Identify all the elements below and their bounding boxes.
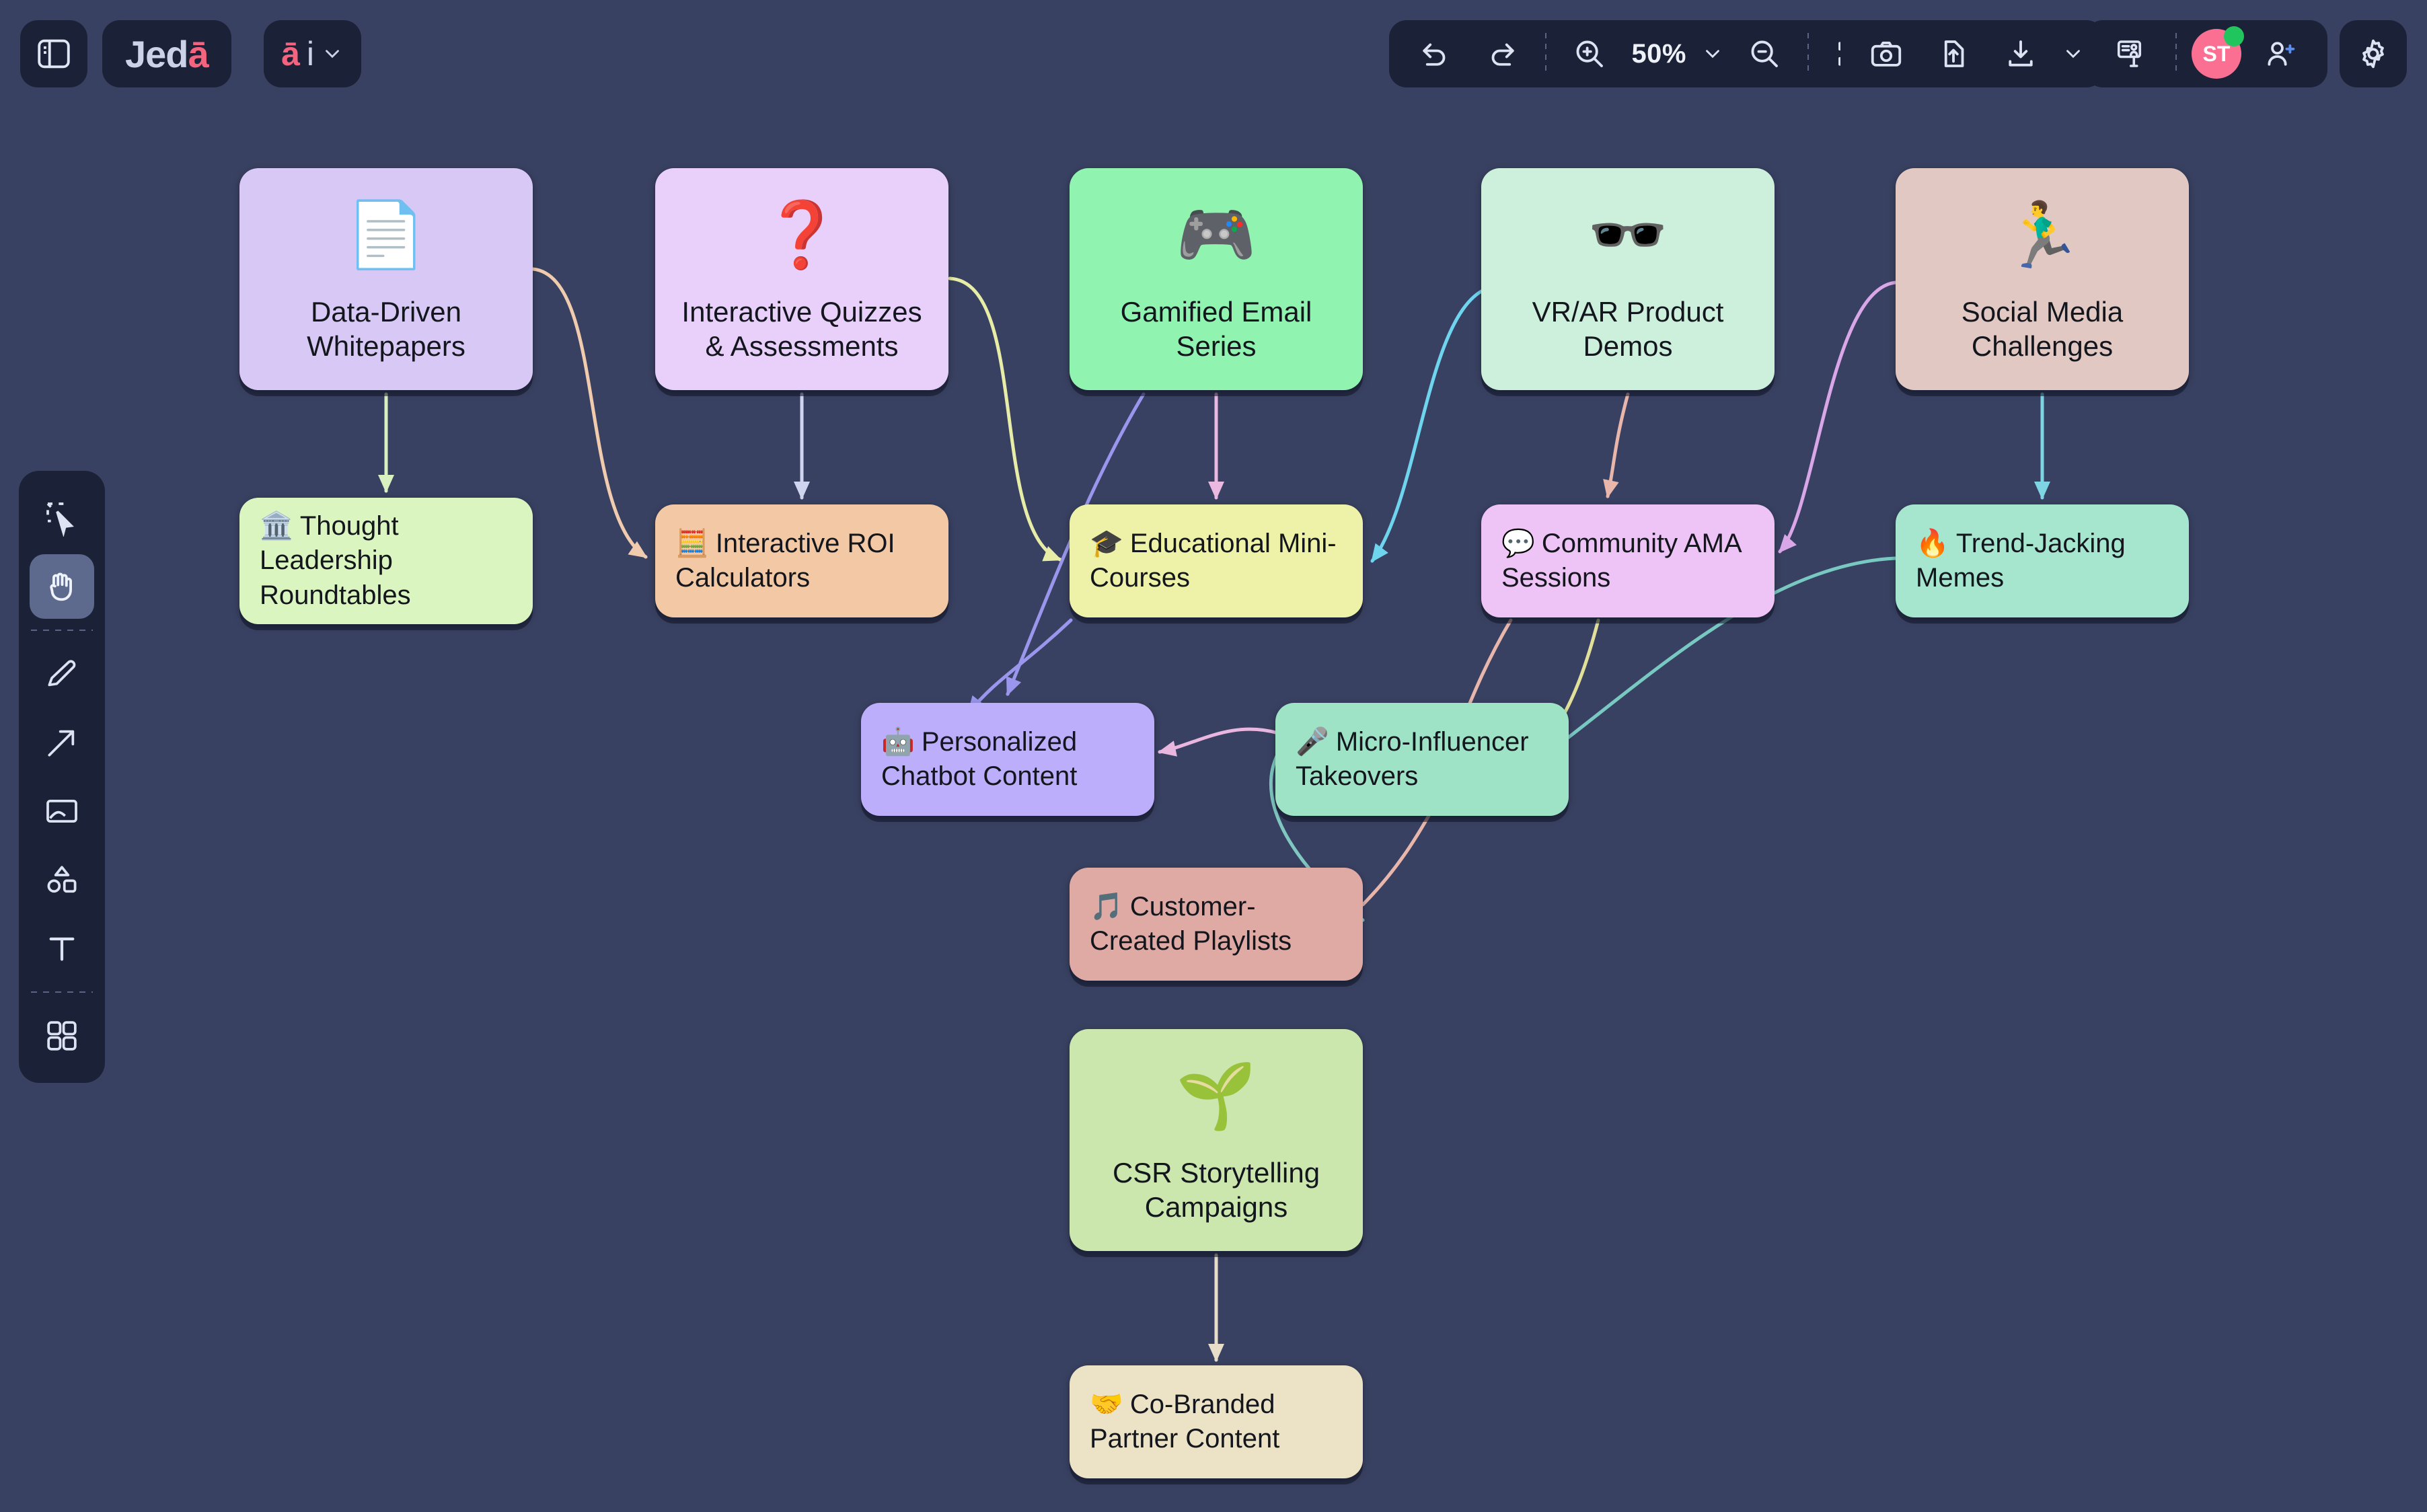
hand-icon [42,567,81,606]
node-emoji-icon: 🤖 [881,727,915,757]
chevron-down-icon [1701,42,1724,65]
mindmap-node-whitepapers[interactable]: 📄Data-Driven Whitepapers [239,168,533,390]
node-emoji-icon: 💬 [1501,529,1535,558]
node-label: 🎓Educational Mini-Courses [1090,527,1343,595]
mindmap-node-playlists[interactable]: 🎵Customer-Created Playlists [1070,868,1363,981]
ai-i-text: i [307,34,314,73]
ai-menu-button[interactable]: ā i [264,20,361,87]
top-toolbar: Jedā ā i 50% [0,0,2427,108]
node-emoji-icon: 🤝 [1090,1390,1123,1419]
node-label: Social Media Challenges [1910,295,2174,363]
zoom-dropdown-button[interactable] [1694,20,1731,87]
tool-divider-1 [31,630,93,631]
chevron-down-icon [2062,42,2085,65]
mindmap-edge-influencer-to-chatbot[interactable] [1160,729,1278,752]
text-icon [43,930,81,967]
chevron-down-icon [321,42,344,65]
mindmap-node-cobranded[interactable]: 🤝Co-Branded Partner Content [1070,1365,1363,1478]
screenshot-button[interactable] [1853,20,1920,87]
brand-text: Jed [125,32,188,76]
node-emoji-icon: 🎵 [1090,892,1123,921]
zoom-toolbar-group: 50% [1389,20,1898,87]
node-label: 🧮Interactive ROI Calculators [675,527,928,595]
node-emoji-icon: 🕶️ [1588,202,1668,270]
select-icon [43,499,81,537]
node-label: 💬Community AMA Sessions [1501,527,1754,595]
download-button[interactable] [1987,20,2054,87]
panel-left-icon [34,34,73,73]
zoom-in-button[interactable] [1556,20,1623,87]
tool-rail [19,471,105,1083]
online-status-dot [2224,26,2244,46]
arrow-icon [43,724,81,761]
toolbar-divider [1545,33,1546,75]
mindmap-canvas[interactable]: 📄Data-Driven Whitepapers❓Interactive Qui… [0,0,2427,1512]
toolbar-divider [2175,33,2177,75]
node-emoji-icon: 📄 [346,202,426,270]
upload-button[interactable] [1920,20,1987,87]
node-label: CSR Storytelling Campaigns [1084,1156,1348,1224]
mindmap-node-influencer[interactable]: 🎤Micro-Influencer Takeovers [1275,703,1569,816]
mindmap-node-quizzes[interactable]: ❓Interactive Quizzes & Assessments [655,168,948,390]
arrow-tool[interactable] [30,710,94,775]
shapes-tool[interactable] [30,847,94,912]
undo-icon [1417,36,1453,72]
node-emoji-icon: 🌱 [1176,1063,1257,1131]
node-label: 🤖Personalized Chatbot Content [881,725,1134,794]
node-label: 🎤Micro-Influencer Takeovers [1296,725,1548,794]
node-emoji-icon: 🎮 [1176,202,1257,270]
whiteboard-app: 📄Data-Driven Whitepapers❓Interactive Qui… [0,0,2427,1512]
invite-member-button[interactable] [2247,20,2314,87]
export-toolbar-group [1840,20,2104,87]
settings-inner[interactable] [2340,20,2407,87]
node-label: Interactive Quizzes & Assessments [670,295,934,363]
node-emoji-icon: 🎤 [1296,727,1329,757]
mindmap-node-socialmedia[interactable]: 🏃‍♂️Social Media Challenges [1896,168,2189,390]
mindmap-node-roi[interactable]: 🧮Interactive ROI Calculators [655,504,948,617]
node-emoji-icon: 🏃‍♂️ [2002,202,2083,270]
camera-icon [1868,36,1904,72]
node-emoji-icon: ❓ [761,202,842,270]
apps-icon [43,1017,81,1055]
toolbar-divider [1807,33,1809,75]
image-icon [43,792,81,830]
node-label: Data-Driven Whitepapers [254,295,518,363]
mindmap-node-minicourses[interactable]: 🎓Educational Mini-Courses [1070,504,1363,617]
file-upload-icon [1935,36,1972,72]
mindmap-node-ama[interactable]: 💬Community AMA Sessions [1481,504,1775,617]
redo-button[interactable] [1468,20,1536,87]
zoom-in-icon [1571,36,1608,72]
mindmap-edge-vrar-to-ama[interactable] [1608,394,1628,496]
undo-button[interactable] [1401,20,1468,87]
mindmap-node-roundtables[interactable]: 🏛️Thought Leadership Roundtables [239,498,533,624]
zoom-out-button[interactable] [1731,20,1798,87]
settings-button[interactable] [2340,20,2407,87]
add-user-icon [2262,36,2299,72]
pen-tool[interactable] [30,642,94,706]
select-tool[interactable] [30,486,94,550]
presentation-icon [2114,36,2151,72]
mindmap-edge-minicourses-to-chatbot[interactable] [969,620,1071,713]
shapes-icon [43,861,81,899]
mindmap-edge-whitepapers-to-roi[interactable] [533,269,646,557]
pen-icon [43,655,81,693]
text-tool[interactable] [30,916,94,981]
zoom-out-icon [1746,36,1783,72]
node-emoji-icon: 🎓 [1090,529,1123,558]
mindmap-edge-quizzes-to-minicourses[interactable] [950,278,1060,560]
mindmap-edge-socialmedia-to-ama[interactable] [1780,282,1896,552]
node-emoji-icon: 🏛️ [260,511,293,541]
node-label: 🔥Trend-Jacking Memes [1916,527,2169,595]
mindmap-node-chatbot[interactable]: 🤖Personalized Chatbot Content [861,703,1154,816]
tool-divider-2 [31,991,93,993]
image-tool[interactable] [30,779,94,843]
hand-tool[interactable] [30,554,94,619]
download-icon [2003,36,2039,72]
mindmap-edge-vrar-to-minicourses[interactable] [1372,289,1485,561]
present-button[interactable] [2099,20,2166,87]
redo-icon [1484,36,1520,72]
ai-a-text: ā [281,34,300,73]
mindmap-node-gamified[interactable]: 🎮Gamified Email Series [1070,168,1363,390]
apps-tool[interactable] [30,1004,94,1068]
avatar-initials: ST [2203,42,2231,67]
gear-icon [2355,36,2391,72]
mindmap-node-vrar[interactable]: 🕶️VR/AR Product Demos [1481,168,1775,390]
node-label: 🏛️Thought Leadership Roundtables [260,509,513,613]
node-emoji-icon: 🔥 [1916,529,1949,558]
mindmap-node-memes[interactable]: 🔥Trend-Jacking Memes [1896,504,2189,617]
brand-accent: ā [188,32,209,76]
mindmap-node-csr[interactable]: 🌱CSR Storytelling Campaigns [1070,1029,1363,1251]
node-label: VR/AR Product Demos [1496,295,1760,363]
app-logo[interactable]: Jedā [102,20,231,87]
zoom-level-label[interactable]: 50% [1623,39,1694,69]
node-label: 🎵Customer-Created Playlists [1090,890,1343,958]
node-label: 🤝Co-Branded Partner Content [1090,1388,1343,1456]
collaboration-toolbar-group: ST [2085,20,2327,87]
node-emoji-icon: 🧮 [675,529,709,558]
node-label: Gamified Email Series [1084,295,1348,363]
sidebar-panel-toggle[interactable] [20,20,87,87]
avatar[interactable]: ST [2192,29,2241,79]
